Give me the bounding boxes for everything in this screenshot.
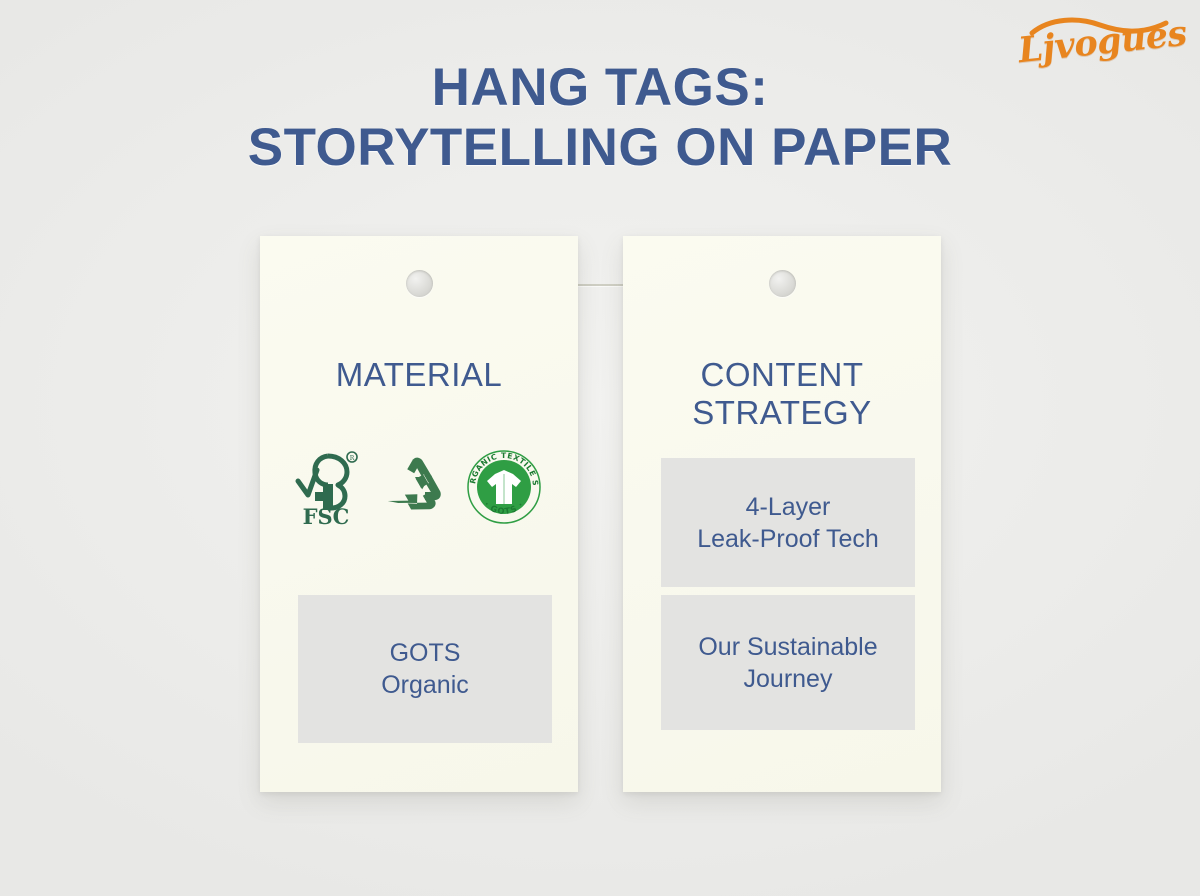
- tag-hole-icon: [406, 270, 433, 297]
- tag-heading-line-1: CONTENT: [623, 356, 941, 394]
- tag-heading-content-strategy: CONTENT STRATEGY: [623, 356, 941, 432]
- content-box-line-1: 4-Layer: [697, 491, 879, 523]
- tag-hole-icon: [769, 270, 796, 297]
- svg-text:FSC: FSC: [303, 504, 350, 526]
- fsc-logo-icon: R FSC: [295, 448, 359, 526]
- content-box-line-2: Organic: [381, 669, 469, 701]
- hang-tag-material[interactable]: MATERIAL R FSC: [260, 236, 578, 792]
- tag-content-box[interactable]: Our Sustainable Journey: [661, 595, 915, 730]
- hang-tag-content-strategy[interactable]: CONTENT STRATEGY 4-Layer Leak-Proof Tech…: [623, 236, 941, 792]
- tag-content-box[interactable]: GOTS Organic: [298, 595, 552, 743]
- content-box-line-1: GOTS: [381, 637, 469, 669]
- tag-content-box[interactable]: 4-Layer Leak-Proof Tech: [661, 458, 915, 587]
- content-box-line-2: Journey: [698, 663, 877, 695]
- svg-text:R: R: [350, 455, 355, 462]
- certification-logos: R FSC: [260, 448, 578, 526]
- tag-heading-line-2: STRATEGY: [623, 394, 941, 432]
- content-box-line-1: Our Sustainable: [698, 631, 877, 663]
- gots-logo-icon: GLOBAL ORGANIC TEXTILE STANDARD · GOTS ·: [465, 448, 543, 526]
- content-box-line-2: Leak-Proof Tech: [697, 523, 879, 555]
- tag-heading-material: MATERIAL: [260, 356, 578, 394]
- tags-stage: MATERIAL R FSC: [0, 0, 1200, 896]
- recycle-logo-icon: [381, 456, 443, 518]
